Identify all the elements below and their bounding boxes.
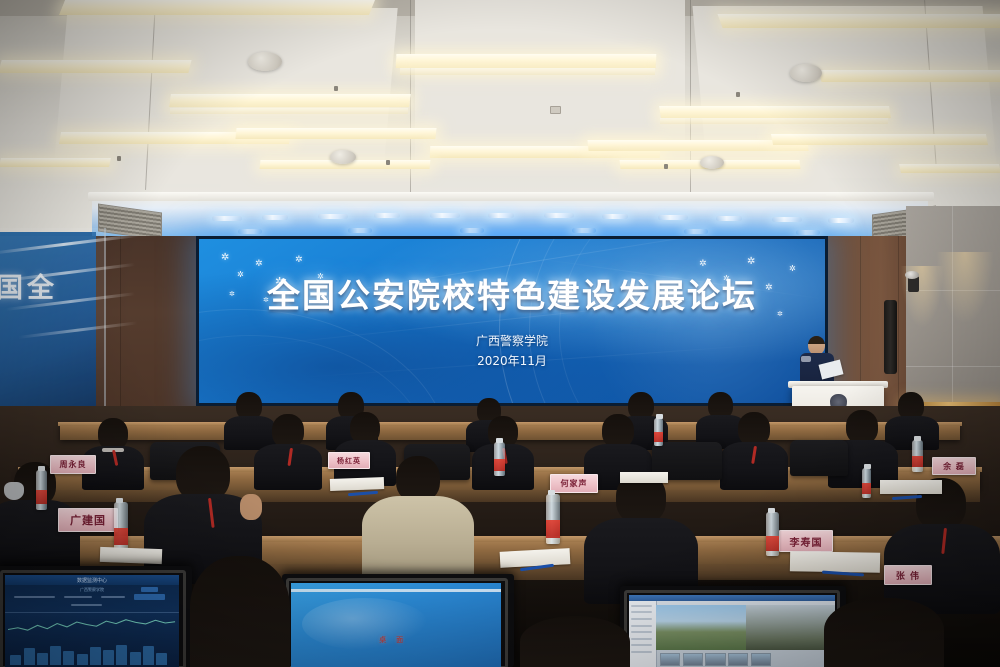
dove-icon: ✲ (295, 255, 303, 264)
document (620, 472, 668, 483)
cctv-thumbnail[interactable] (660, 653, 681, 667)
cctv-pane-2[interactable] (746, 605, 835, 650)
screen-subtitle-date: 2020年11月 (199, 352, 825, 369)
dashboard-bar (90, 647, 101, 665)
ceiling-speaker-icon (330, 150, 356, 164)
sprinkler-icon (664, 164, 668, 169)
name-placard: 余 磊 (932, 457, 976, 475)
ceiling-speaker-icon (700, 156, 724, 169)
wall-speaker-icon (884, 300, 897, 374)
dashboard-bar-row (10, 645, 174, 665)
document (790, 551, 880, 573)
attendee-silhouette (520, 616, 630, 667)
desktop-watermark: 桌 面 (379, 635, 407, 645)
dashboard-action-button[interactable] (141, 587, 158, 592)
soffit-edge (88, 192, 934, 201)
desktop-screen: 桌 面 (291, 583, 501, 667)
document (880, 480, 942, 494)
water-bottle (766, 512, 779, 556)
dashboard-bar (143, 646, 154, 665)
water-bottle (114, 502, 128, 550)
document (100, 547, 162, 564)
cctv-thumbnail[interactable] (683, 653, 704, 667)
name-placard: 李寿国 (779, 530, 833, 552)
dashboard-bar (130, 652, 141, 665)
name-placard: 周永良 (50, 455, 96, 474)
ceiling-speaker-icon (790, 64, 822, 82)
dashboard-bar (50, 646, 61, 666)
placard-name: 余 磊 (943, 461, 965, 472)
sprinkler-icon (736, 92, 740, 97)
placard-name: 杨红英 (337, 456, 361, 466)
dashboard-bar (63, 651, 74, 665)
dashboard-bar (24, 648, 35, 665)
water-bottle (912, 440, 923, 472)
name-placard: 广建国 (58, 508, 118, 532)
right-monitor[interactable] (620, 586, 846, 667)
dashboard-subtitle: 广西警察学院 (80, 587, 104, 593)
dashboard-line-chart (8, 617, 175, 641)
screen-subtitle-org: 广西警察学院 (199, 332, 825, 349)
name-placard: 杨红英 (328, 452, 370, 469)
dove-icon: ✲ (699, 259, 707, 268)
cctv-screen (629, 595, 835, 667)
cctv-device-list[interactable] (629, 601, 657, 667)
water-bottle (654, 418, 663, 446)
placard-name: 周永良 (60, 459, 87, 470)
name-placard: 何家声 (550, 474, 598, 493)
dashboard-screen: 数据监测中心 广西警察学院 (5, 575, 179, 667)
dashboard-bar (156, 653, 167, 665)
cctv-pane-1[interactable] (656, 605, 747, 650)
side-wall-stone (906, 206, 1000, 426)
water-bottle (36, 470, 47, 510)
dashboard-bar (37, 653, 48, 665)
dove-icon: ✲ (255, 259, 263, 268)
ceiling-speaker-icon (248, 52, 282, 71)
water-bottle (862, 468, 871, 498)
sprinkler-icon (386, 160, 390, 165)
dashboard-title: 数据监测中心 (77, 577, 107, 584)
screen-title: 全国公安院校特色建设发展论坛 (199, 269, 825, 317)
cctv-toolbar[interactable] (629, 595, 835, 601)
water-bottle (546, 494, 560, 544)
document (330, 477, 384, 491)
chair (790, 440, 848, 476)
attendee-silhouette (824, 598, 944, 667)
dove-icon: ✲ (747, 257, 755, 267)
left-monitor[interactable]: 数据监测中心 广西警察学院 (0, 566, 192, 667)
dashboard-bar (77, 654, 88, 665)
smoke-sensor-icon (550, 106, 561, 114)
dashboard-bar (103, 650, 114, 666)
name-placard: 张 伟 (884, 565, 932, 585)
cctv-thumbnail[interactable] (705, 653, 726, 667)
led-screen: ✲ ✲ ✲ ✲ ✲ ✲ ✲ ✲ ✲ ✲ ✲ ✲ ✲ ✲ ✲ 全国公安院校特色建设… (199, 239, 825, 403)
water-bottle (494, 442, 505, 476)
sprinkler-icon (117, 156, 121, 161)
presenter-epaulette (801, 356, 811, 362)
attendee-silhouette (190, 556, 290, 667)
dashboard-bar (10, 655, 21, 665)
dashboard-query-button[interactable] (134, 594, 165, 600)
cctv-thumbnail[interactable] (728, 653, 749, 667)
sprinkler-icon (334, 86, 338, 91)
cctv-thumbnail[interactable] (751, 653, 772, 667)
face-mask (4, 482, 24, 500)
hand (240, 494, 262, 520)
placard-name: 张 伟 (896, 569, 920, 582)
placard-name: 李寿国 (790, 534, 823, 549)
security-camera-icon (908, 276, 919, 292)
placard-name: 广建国 (70, 512, 106, 528)
center-monitor[interactable]: 桌 面 (282, 574, 514, 667)
dashboard-bar (116, 645, 127, 665)
conference-hall-photo: ✲ ✲ ✲ ✲ ✲ ✲ ✲ ✲ ✲ ✲ ✲ ✲ ✲ ✲ ✲ 全国公安院校特色建设… (0, 0, 1000, 667)
placard-name: 何家声 (561, 478, 588, 489)
dove-icon: ✲ (221, 253, 229, 263)
